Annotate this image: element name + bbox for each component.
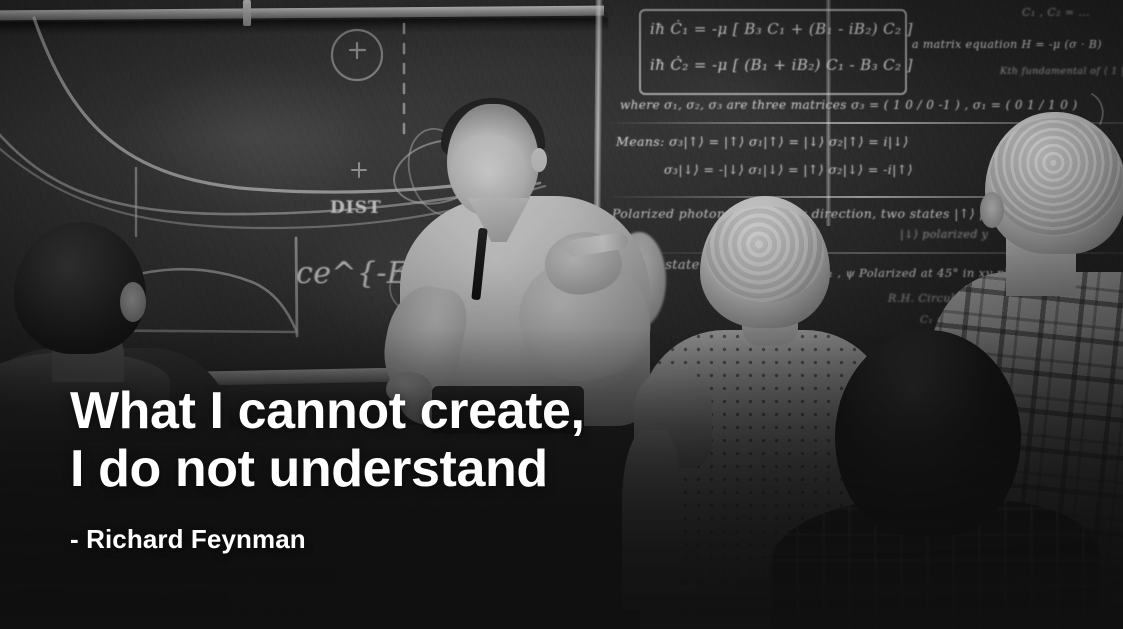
chalk-annotation: Means: σ₃|↑⟩ = |↑⟩ σ₁|↑⟩ = |↓⟩ σ₂|↑⟩ = i…	[616, 134, 909, 149]
feynman-ear	[531, 148, 547, 172]
chalk-annotation: a matrix equation H = -μ (σ · B)	[912, 38, 1102, 51]
chalk-annotation: Kth fundamental of ⟨ 1 | σ | ı ⟩	[1000, 66, 1123, 77]
chalk-annotation: σ₃|↓⟩ = -|↓⟩ σ₁|↓⟩ = |↑⟩ σ₂|↓⟩ = -i|↑⟩	[664, 162, 913, 177]
chalk-boxed-equation-1: iħ Ċ₁ = -μ [ B₃ C₁ + (B₁ - iB₂) C₂ ]	[650, 20, 913, 38]
quote-card: DIST ce^{-E_i/kT} iħ Ċ₁ = -μ [ B₃ C₁ + (…	[0, 0, 1123, 629]
quote-line-1: What I cannot create,	[70, 382, 750, 440]
chalk-annotation: where σ₁, σ₂, σ₃ are three matrices σ₃ =…	[620, 98, 1078, 112]
quote-line-2: I do not understand	[70, 440, 750, 498]
plaid-man-hair-texture	[990, 118, 1122, 236]
chalk-boxed-equation-2: iħ Ċ₂ = -μ [ (B₁ + iB₂) C₁ - B₃ C₂ ]	[650, 56, 913, 74]
chalk-annotation: C₁ , C₂ = ...	[1022, 6, 1090, 19]
dark-jacket-man-ear	[120, 282, 146, 322]
woman-hair-waves	[706, 206, 824, 302]
rail-clip	[243, 0, 251, 26]
dark-hair-person-hair	[835, 330, 1021, 536]
quote-attribution: - Richard Feynman	[70, 524, 750, 555]
chalk-annotation: |↓⟩ polarized y	[900, 228, 988, 241]
quote-block: What I cannot create, I do not understan…	[70, 382, 750, 555]
chalk-label-dist: DIST	[330, 198, 382, 218]
plaid-man-ear	[980, 192, 1004, 228]
